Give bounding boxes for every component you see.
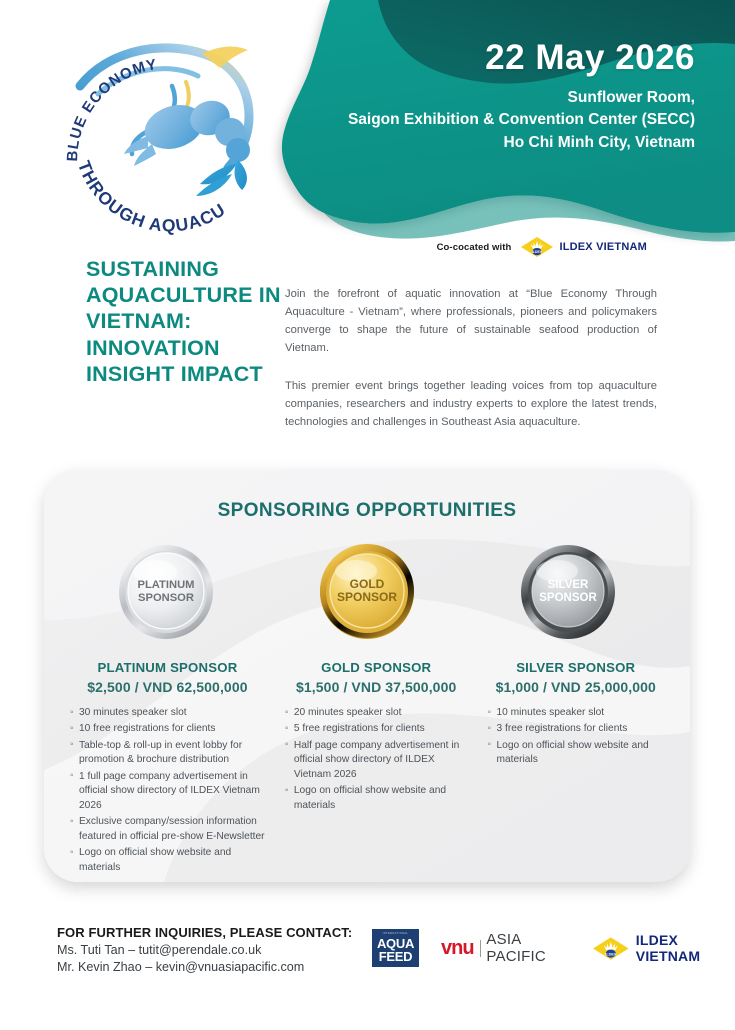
contact-person-1[interactable]: Ms. Tuti Tan – tutit@perendale.co.uk [57,943,352,957]
tier-gold: GOLD SPONSOR $1,500 / VND 37,500,000 20 … [275,660,478,877]
benefit-item: 3 free registrations for clients [488,722,664,736]
contact-title: FOR FURTHER INQUIRIES, PLEASE CONTACT: [57,925,352,940]
vnu-asia-pacific-label: ASIA PACIFIC [486,931,570,965]
contact-person-2[interactable]: Mr. Kevin Zhao – kevin@vnuasiapacific.co… [57,960,352,974]
blue-economy-logo: THROUGH AQUACULTURE BLUE ECONOMY [52,24,282,239]
intro-paragraph-1: Join the forefront of aquatic innovation… [285,285,657,358]
footer-logo-row: INTERNATIONAL AQUA FEED vnu ASIA PACIFIC [372,929,735,967]
vnu-wordmark: vnu [441,937,474,960]
benefit-item: 1 full page company advertisement in off… [70,770,265,813]
tier-gold-benefits: 20 minutes speaker slot 5 free registrat… [285,706,468,813]
silver-medal-icon: SILVER SPONSOR [517,540,619,642]
platinum-medal-label-1: PLATINUM [138,579,195,591]
gold-medal-icon: GOLD SPONSOR [316,540,418,642]
tier-silver-benefits: 10 minutes speaker slot 3 free registrat… [488,706,664,768]
tier-silver-price: $1,000 / VND 25,000,000 [488,679,664,695]
venue-line-3: Ho Chi Minh City, Vietnam [348,132,695,154]
silver-medal-label-2: SPONSOR [539,592,597,604]
medal-row: PLATINUM SPONSOR [44,540,690,642]
aquafeed-line-2: FEED [379,950,412,963]
header-event-info: 22 May 2026 Sunflower Room, Saigon Exhib… [348,40,695,154]
svg-text:ILDEX: ILDEX [532,250,543,254]
svg-text:ILDEX: ILDEX [605,952,617,956]
tier-platinum-benefits: 30 minutes speaker slot 10 free registra… [70,706,265,875]
tier-gold-name: GOLD SPONSOR [285,660,468,675]
benefit-item: Table-top & roll-up in event lobby for p… [70,739,265,768]
benefit-item: 10 free registrations for clients [70,722,265,736]
gold-medal-label-2: SPONSOR [337,590,397,604]
sponsoring-opportunities-card: SPONSORING OPPORTUNITIES [44,470,690,882]
ildex-vietnam-footer-logo: ILDEX ILDEX VIETNAM [592,932,735,964]
sponsoring-section-title: SPONSORING OPPORTUNITIES [44,500,690,522]
ildex-vietnam-logo: ILDEX ILDEX VIETNAM [520,236,647,258]
silver-medal-label-1: SILVER [547,579,588,591]
tier-platinum-name: PLATINUM SPONSOR [70,660,265,675]
tier-silver-name: SILVER SPONSOR [488,660,664,675]
benefit-item: 10 minutes speaker slot [488,706,664,720]
benefit-item: 30 minutes speaker slot [70,706,265,720]
page-headline: SUSTAINING AQUACULTURE IN VIETNAM: INNOV… [86,256,286,387]
aquafeed-line-1: AQUA [377,937,414,950]
ildex-vietnam-label: ILDEX VIETNAM [559,241,647,253]
aquafeed-logo: INTERNATIONAL AQUA FEED [372,929,419,967]
colocated-label: Co-cocated with [437,242,512,253]
gold-medal-label-1: GOLD [350,577,385,591]
flyer-page: 22 May 2026 Sunflower Room, Saigon Exhib… [0,0,735,1030]
event-venue: Sunflower Room, Saigon Exhibition & Conv… [348,87,695,154]
colocated-partner-block: Co-cocated with ILDEX ILDEX VIETNAM [437,236,647,258]
vnu-asia-pacific-logo: vnu ASIA PACIFIC [441,931,570,965]
benefit-item: Logo on official show website and materi… [285,784,468,813]
footer: FOR FURTHER INQUIRIES, PLEASE CONTACT: M… [0,915,735,1005]
venue-line-2: Saigon Exhibition & Convention Center (S… [348,109,695,131]
event-date: 22 May 2026 [348,40,695,77]
benefit-item: Exclusive company/session information fe… [70,815,265,844]
ildex-vietnam-footer-label: ILDEX VIETNAM [636,932,735,964]
benefit-item: Logo on official show website and materi… [488,739,664,768]
tier-gold-price: $1,500 / VND 37,500,000 [285,679,468,695]
tier-platinum-price: $2,500 / VND 62,500,000 [70,679,265,695]
platinum-medal-label-2: SPONSOR [138,592,194,604]
ildex-diamond-icon: ILDEX [520,236,554,258]
venue-line-1: Sunflower Room, [348,87,695,109]
intro-paragraph-2: This premier event brings together leadi… [285,377,657,431]
benefit-item: 5 free registrations for clients [285,722,468,736]
benefit-item: 20 minutes speaker slot [285,706,468,720]
intro-copy: Join the forefront of aquatic innovation… [285,285,657,431]
sponsor-tier-row: PLATINUM SPONSOR $2,500 / VND 62,500,000… [44,660,690,877]
tier-silver: SILVER SPONSOR $1,000 / VND 25,000,000 1… [478,660,674,877]
vnu-divider [480,940,481,957]
benefit-item: Half page company advertisement in offic… [285,739,468,782]
platinum-medal-icon: PLATINUM SPONSOR [115,540,217,642]
benefit-item: Logo on official show website and materi… [70,846,265,875]
ildex-diamond-icon: ILDEX [592,935,630,962]
tier-platinum: PLATINUM SPONSOR $2,500 / VND 62,500,000… [60,660,275,877]
contact-block: FOR FURTHER INQUIRIES, PLEASE CONTACT: M… [57,925,352,974]
